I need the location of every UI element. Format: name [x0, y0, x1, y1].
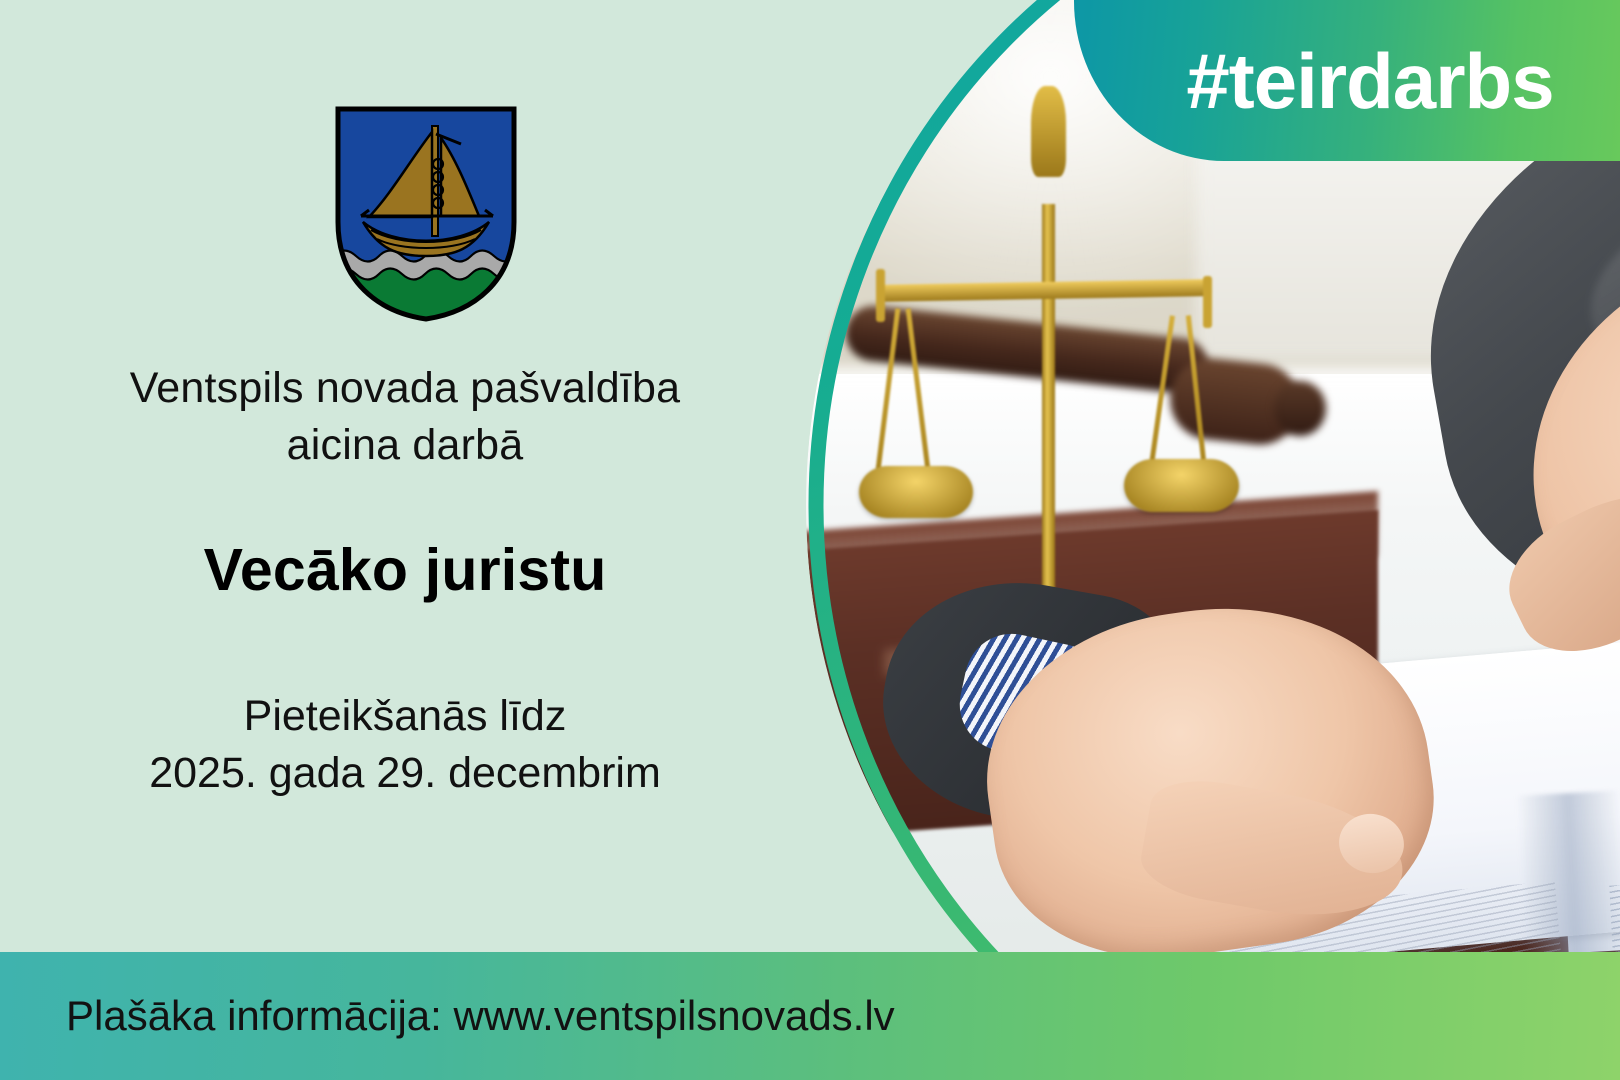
deadline-line-1: Pieteikšanās līdz — [0, 688, 810, 746]
poster-root: #teirdarbs — [0, 0, 1620, 1080]
coat-of-arms — [333, 104, 519, 324]
deadline-line-2: 2025. gada 29. decembrim — [0, 745, 810, 803]
photo-region — [806, 0, 1620, 1080]
headline: Ventspils novada pašvaldība aicina darbā — [0, 360, 810, 474]
scales-chain-left-a — [875, 309, 901, 479]
scales-hanger-left — [876, 269, 885, 321]
scales-pan-left — [859, 466, 974, 518]
left-content: Ventspils novada pašvaldība aicina darbā… — [0, 360, 810, 803]
hashtag-label: #teirdarbs — [1140, 42, 1553, 120]
headline-line-2: aicina darbā — [0, 417, 810, 474]
hashtag-banner: #teirdarbs — [1074, 0, 1620, 161]
footer-bar: Plašāka informācija: www.ventspilsnovads… — [0, 952, 1620, 1080]
scales-hanger-right — [1203, 276, 1212, 328]
photo-circular-mask — [806, 0, 1620, 1080]
deadline: Pieteikšanās līdz 2025. gada 29. decembr… — [0, 688, 810, 803]
scales-chain-left-b — [906, 309, 932, 479]
office-photo — [806, 0, 1620, 1080]
job-title: Vecāko juristu — [0, 536, 810, 604]
scales-chain-right-a — [1148, 315, 1175, 471]
footer-info-text: Plašāka informācija: www.ventspilsnovads… — [66, 992, 895, 1040]
scales-post — [1042, 204, 1055, 649]
headline-line-1: Ventspils novada pašvaldība — [0, 360, 810, 417]
scales-pan-right — [1124, 459, 1239, 511]
gavel-tip — [1274, 381, 1326, 436]
scales-beam — [876, 279, 1212, 302]
scales-chain-right-b — [1186, 315, 1208, 472]
scales-finial — [1031, 86, 1066, 178]
